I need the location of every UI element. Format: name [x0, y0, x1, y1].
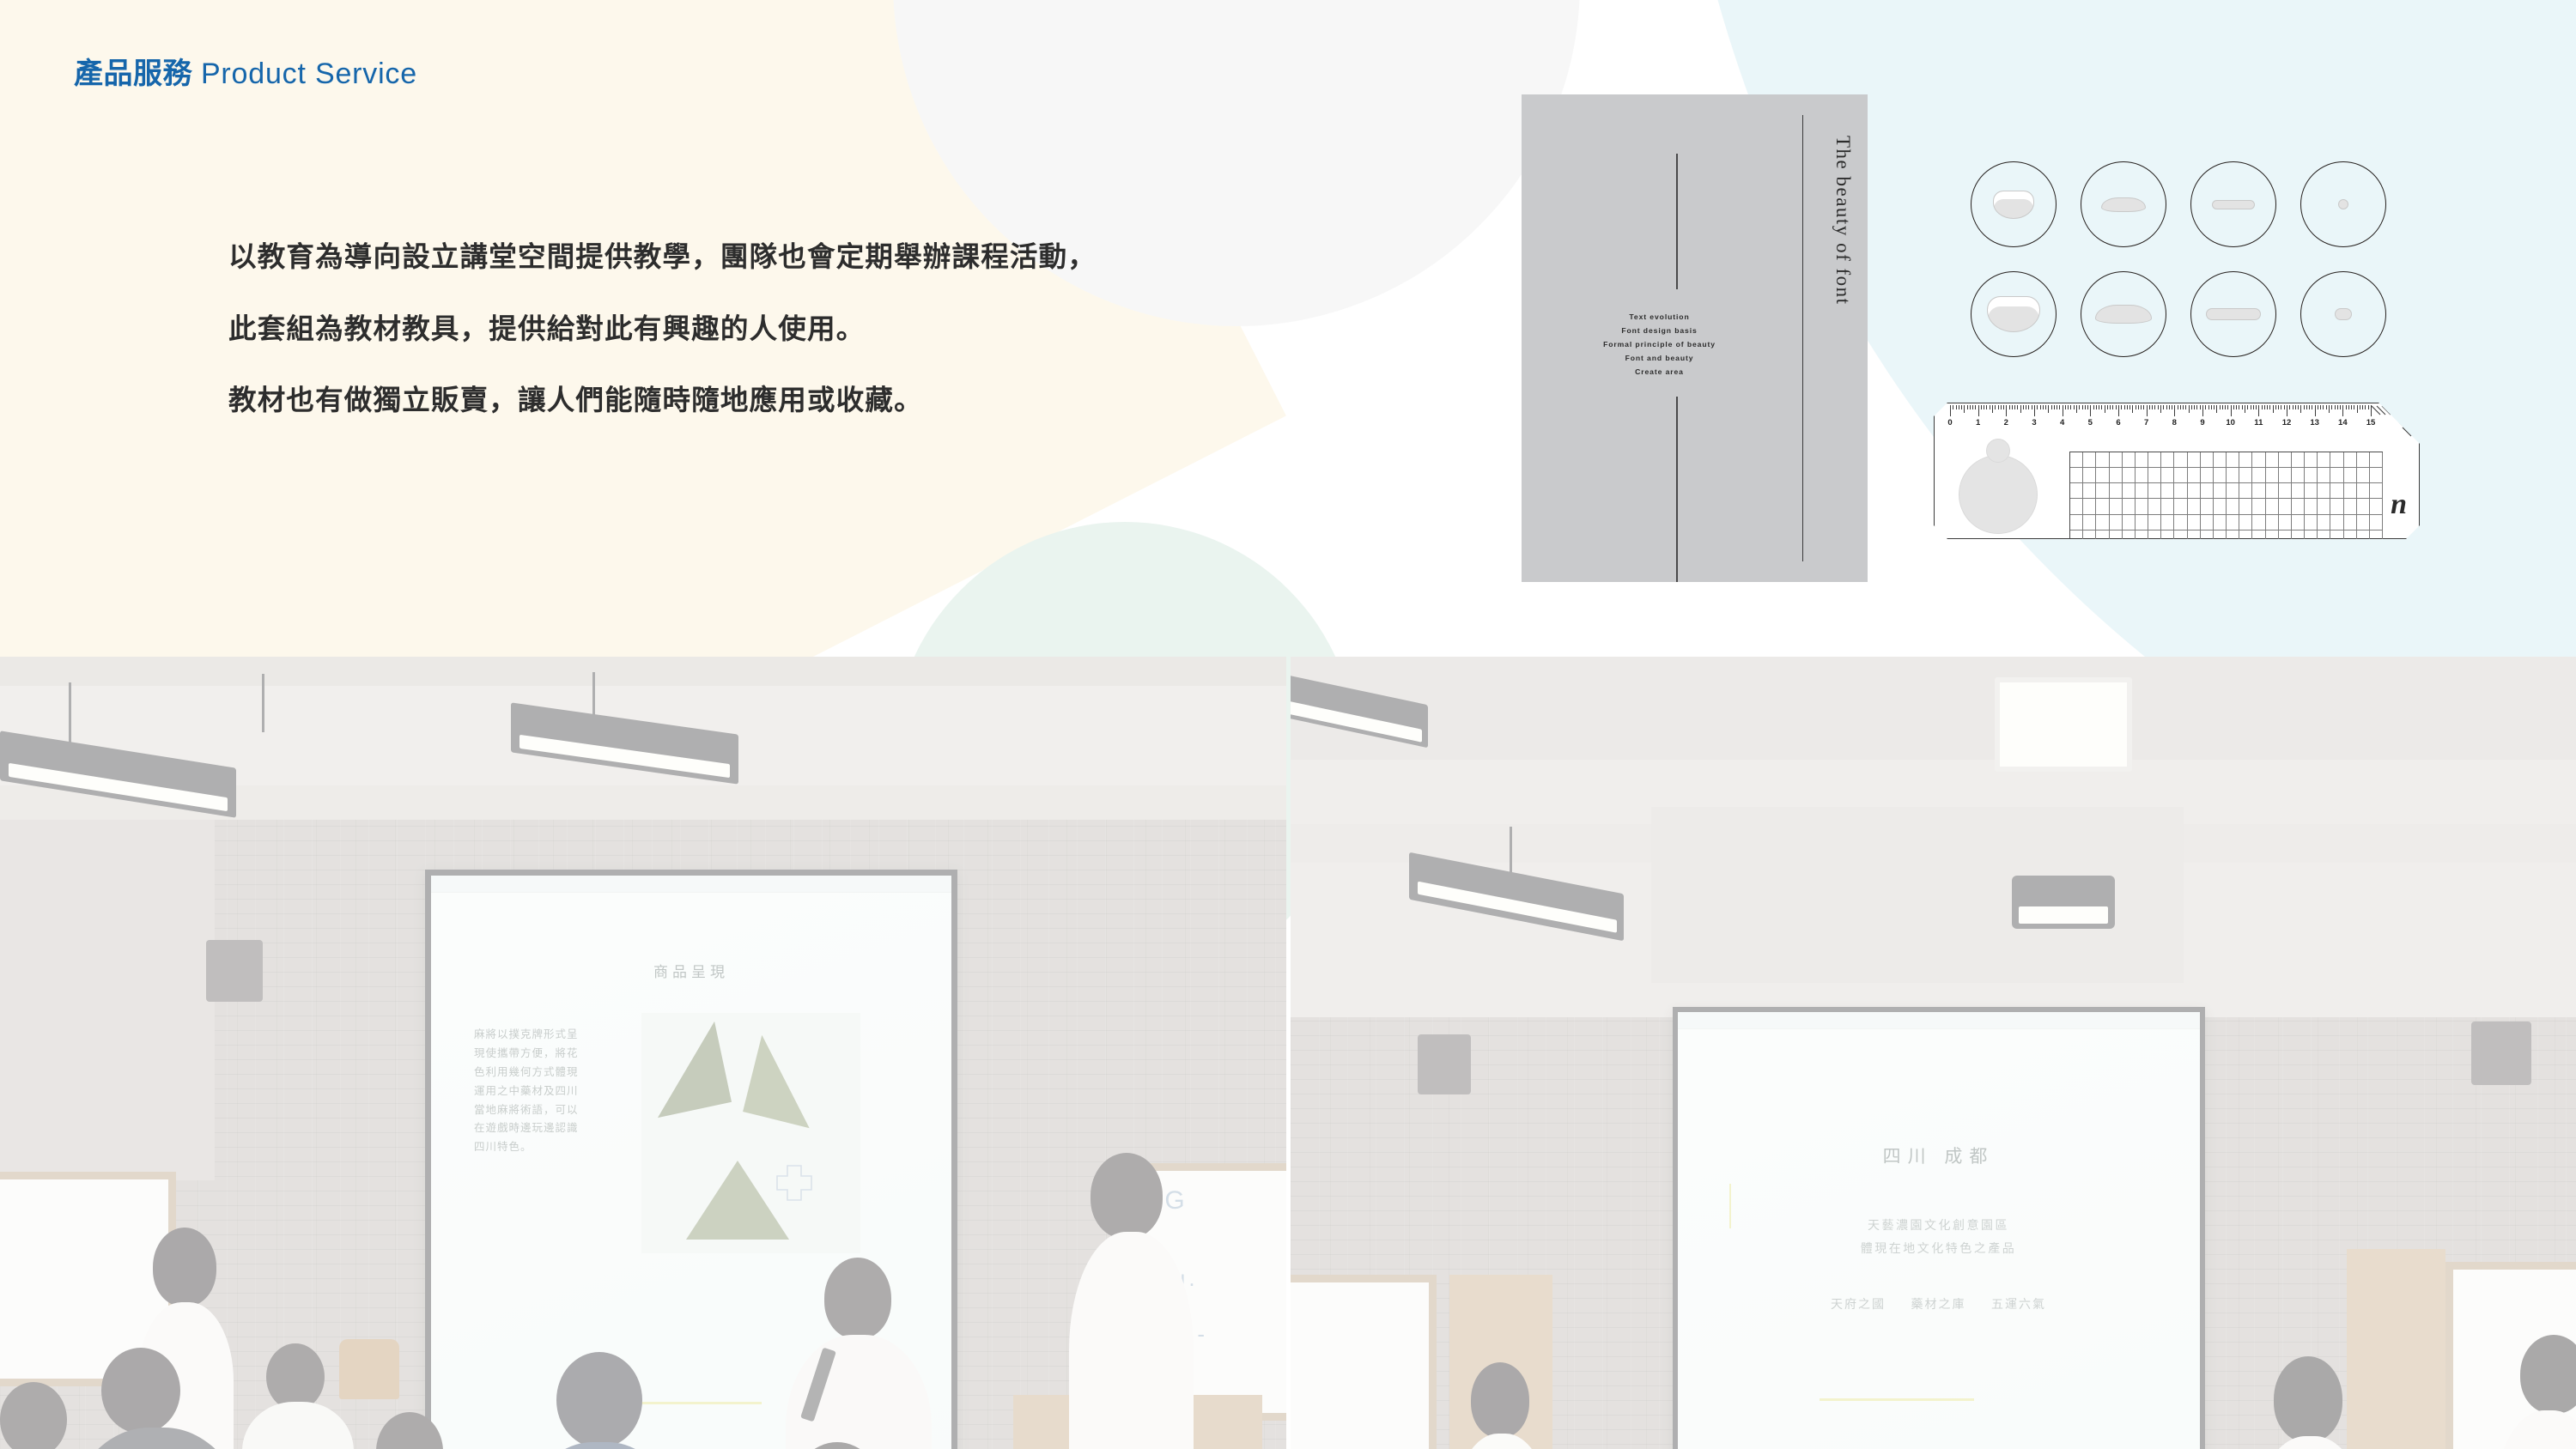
ruler-tick-minor: [2045, 405, 2046, 409]
ruler-grid-cell: [2214, 483, 2227, 499]
ruler-tick-minor: [2116, 405, 2117, 409]
ruler-tick-minor: [2293, 405, 2293, 409]
body-line: 以教育為導向設立講堂空間提供教學，團隊也會定期舉辦課程活動，: [228, 243, 1097, 271]
ruler-tick-major: [2118, 405, 2119, 416]
person-head: [1471, 1362, 1529, 1438]
ruler-grid-cell: [2188, 499, 2201, 514]
ruler-tick-minor: [2196, 405, 2197, 409]
ruler-grid-cell: [2279, 483, 2292, 499]
ruler-grid-cell: [2214, 468, 2227, 483]
ruler-tick-minor: [2216, 405, 2217, 413]
ruler-grid-cell: [2292, 468, 2305, 483]
ruler-tick-minor: [2001, 405, 2002, 409]
ruler-tick-minor: [2138, 405, 2139, 409]
ruler-tick-minor: [2099, 405, 2099, 409]
ruler-tick-minor: [2009, 405, 2010, 409]
ruler-grid-cell: [2123, 499, 2136, 514]
ruler-grid-cell: [2096, 499, 2109, 514]
person-head: [266, 1343, 325, 1410]
ruler-tick-minor: [2340, 405, 2341, 409]
ruler-tick-minor: [1959, 405, 1959, 409]
slide-accent-tick: [1729, 1184, 1731, 1228]
ruler-grid-cell: [2161, 499, 2174, 514]
side-wall: [0, 820, 215, 1180]
ruler-tick-minor: [2256, 405, 2257, 409]
ruler-grid-cell: [2136, 499, 2148, 514]
ruler-grid-cell: [2123, 483, 2136, 499]
ruler-scale: 0123456789101112131415: [1950, 405, 2371, 436]
ruler-grid-cell: [2344, 483, 2357, 499]
page-title-en: Product Service: [201, 58, 417, 90]
ruler-tick-minor: [2065, 405, 2066, 409]
ruler-grid-cell: [2252, 515, 2265, 530]
ruler-tick-minor: [2037, 405, 2038, 409]
slide-title: 商品呈現: [431, 960, 951, 981]
ruler-grid-cell: [2070, 452, 2083, 468]
stamp-u-curve-small-icon: [1971, 161, 2057, 247]
ruler-grid-cell: [2344, 452, 2357, 468]
ruler-tick-minor: [2236, 405, 2237, 409]
poster-mockup: The beauty of font Text evolution Font d…: [1522, 94, 1868, 582]
slide-subtitle: 天藝濃園文化創意園區 體現在地文化特色之產品: [1678, 1214, 2200, 1259]
ruler-grid-cell: [2110, 452, 2123, 468]
ruler-grid-cell: [2161, 468, 2174, 483]
poster-contents-list: Text evolution Font design basis Formal …: [1522, 311, 1797, 379]
ruler-grid-cell: [2318, 515, 2330, 530]
ruler-grid-cell: [2201, 499, 2214, 514]
ruler-grid-cell: [2305, 483, 2318, 499]
person-head: [0, 1382, 67, 1449]
ruler-grid-cell: [2330, 452, 2343, 468]
wall-speaker: [1418, 1034, 1471, 1094]
whiteboard-left: [1291, 1275, 1437, 1449]
ruler-tick-minor: [2129, 405, 2130, 409]
ruler-grid-cell: [2279, 468, 2292, 483]
cabinet: [2347, 1249, 2445, 1449]
ruler-grid-cell: [2110, 468, 2123, 483]
ruler-grid-cell: [2136, 515, 2148, 530]
ruler-grid-cell: [2357, 499, 2370, 514]
ruler-grid-cell: [2174, 452, 2187, 468]
ruler-grid-cell: [2214, 452, 2227, 468]
lamp-rod: [1510, 827, 1512, 875]
ruler-tick-minor: [2264, 405, 2265, 409]
ruler-tick-minor: [2185, 405, 2186, 409]
ruler-grid-cell: [2201, 452, 2214, 468]
ruler-grid-cell: [2070, 515, 2083, 530]
ruler-tick-minor: [2149, 405, 2150, 409]
ruler-circle-nub: [1986, 439, 2010, 463]
ruler-grid-cell: [2148, 468, 2161, 483]
ruler-grid-cell: [2070, 499, 2083, 514]
ruler-grid-cell: [2318, 468, 2330, 483]
ruler-tick-minor: [2309, 405, 2310, 409]
ruler-tick-minor: [2127, 405, 2128, 409]
ruler-tick-minor: [2166, 405, 2167, 409]
ruler-grid-cell: [2370, 515, 2383, 530]
ruler-tick-minor: [2023, 405, 2024, 409]
ruler-tick-minor: [1964, 405, 1965, 413]
ruler-tick-minor: [2026, 405, 2026, 409]
slide-title: 四川 成都: [1678, 1143, 2200, 1168]
ruler-tick-major: [2174, 405, 2175, 416]
stamp-dot-small-icon: [2300, 161, 2386, 247]
poster-contents-item: Formal principle of beauty: [1522, 338, 1797, 352]
ruler-tick-minor: [2346, 405, 2347, 409]
ruler-tick-major: [2287, 405, 2287, 416]
ruler-tick-minor: [2121, 405, 2122, 409]
ruler-grid-cell: [2174, 468, 2187, 483]
ruler-tick-minor: [2242, 405, 2243, 409]
poster-rule-lower: [1676, 397, 1678, 582]
ruler-grid-cell: [2201, 483, 2214, 499]
ruler-grid-cell: [2227, 468, 2239, 483]
ruler-grid-cell: [2370, 468, 2383, 483]
ruler-grid-cell: [2239, 452, 2252, 468]
brand-logo-icon: n: [2391, 488, 2405, 521]
ruler-tick-minor: [2087, 405, 2088, 409]
ruler-grid-cell: [2330, 483, 2343, 499]
ruler-tick-minor: [1992, 405, 1993, 413]
ruler-tick-minor: [2154, 405, 2155, 409]
ruler-tick-minor: [2043, 405, 2044, 409]
ruler-grid-cell: [2330, 468, 2343, 483]
ruler-tick-minor: [2194, 405, 2195, 409]
ruler-tick-minor: [1998, 405, 1999, 409]
ruler-grid-cell: [2188, 515, 2201, 530]
ruler-grid-cell: [2174, 499, 2187, 514]
ceiling-lamp: [2012, 876, 2115, 929]
ruler-tick-minor: [1986, 405, 1987, 409]
ruler-tick-minor: [2105, 405, 2105, 413]
ruler-tick-minor: [2054, 405, 2055, 409]
person-head: [556, 1352, 642, 1448]
person-body: [1069, 1232, 1194, 1449]
poster-contents-item: Font and beauty: [1522, 352, 1797, 366]
ruler-tick-minor: [1972, 405, 1973, 409]
stamp-dot-large-icon: [2300, 271, 2386, 357]
ruler-tick-minor: [2278, 405, 2279, 409]
ruler-tick-major: [1978, 405, 1979, 416]
ruler-grid-cell: [2305, 515, 2318, 530]
slide-toolbar: [431, 876, 951, 893]
ruler-grid-cell: [2227, 515, 2239, 530]
ruler-grid-cell: [2083, 468, 2096, 483]
slide: 四川 成都 天藝濃園文化創意園區 體現在地文化特色之產品 天府之國 藥材之庫 五…: [1678, 1012, 2200, 1449]
ruler-grid-cell: [2214, 499, 2227, 514]
ruler-tick-major: [2231, 405, 2232, 416]
ruler-grid-cell: [2136, 468, 2148, 483]
ruler-grid-cell: [2161, 515, 2174, 530]
photo-strip: 商品呈現 麻將以撲克牌形式呈 現使攜帶方便，將花 色利用幾何方式體現 運用之中藥…: [0, 657, 2576, 1449]
ruler-grid-cell: [2227, 499, 2239, 514]
poster-contents-item: Create area: [1522, 366, 1797, 379]
ruler-tick-minor: [2284, 405, 2285, 409]
ruler-grid-cell: [2174, 483, 2187, 499]
wall-speaker: [2471, 1022, 2531, 1085]
ruler-tick-minor: [2323, 405, 2324, 409]
ruler-tick-minor: [2112, 405, 2113, 409]
ruler-grid-cell: [2227, 452, 2239, 468]
chair: [339, 1339, 399, 1399]
ruler-tick-major: [2063, 405, 2063, 416]
ruler-tick-minor: [2245, 405, 2245, 413]
ruler-tick-minor: [2348, 405, 2349, 409]
ruler-tick-minor: [2211, 405, 2212, 409]
ruler-grid-cell: [2201, 515, 2214, 530]
ruler-grid-cell: [2266, 468, 2279, 483]
ruler-grid-cell: [2161, 483, 2174, 499]
ruler-grid-cell: [2110, 499, 2123, 514]
ruler-tick-minor: [1984, 405, 1984, 409]
ruler-tick-minor: [2020, 405, 2021, 413]
page-title-zh: 產品服務: [74, 58, 192, 90]
lamp-rod: [262, 674, 264, 732]
ruler-tick-label: 5: [2088, 418, 2093, 427]
ruler-tick-minor: [2124, 405, 2125, 409]
body-line: 此套組為教材教具，提供給對此有興趣的人使用。: [228, 315, 1097, 343]
ruler-grid-cell: [2214, 515, 2227, 530]
ruler-tick-minor: [2326, 405, 2327, 409]
poster-contents-item: Text evolution: [1522, 311, 1797, 324]
ruler-grid-cell: [2110, 483, 2123, 499]
ruler-grid-cell: [2318, 452, 2330, 468]
ruler-tick-minor: [2312, 405, 2312, 409]
ruler-grid-cell: [2070, 483, 2083, 499]
slide-page: 產品服務 Product Service 以教育為導向設立講堂空間提供教學，團隊…: [0, 0, 2576, 1449]
projection-screen: 四川 成都 天藝濃園文化創意園區 體現在地文化特色之產品 天府之國 藥材之庫 五…: [1673, 1007, 2205, 1449]
ruler-tick-minor: [2107, 405, 2108, 409]
ruler-tick-minor: [2227, 405, 2228, 409]
ruler-tick-label: 13: [2310, 418, 2319, 427]
ruler-grid-cell: [2188, 468, 2201, 483]
stamp-arc-large-icon: [2081, 271, 2166, 357]
ruler-tick-label: 3: [2032, 418, 2036, 427]
ruler-grid-cell: [2096, 452, 2109, 468]
ruler-tick-minor: [2200, 405, 2201, 409]
lamp-rod: [592, 672, 595, 720]
ruler-grid-cell: [2123, 515, 2136, 530]
ruler-grid-cell: [2344, 515, 2357, 530]
ruler-grid-cell: [2318, 499, 2330, 514]
ruler-tick-minor: [2183, 405, 2184, 409]
ruler-grid-cell: [2083, 483, 2096, 499]
ruler-tick-minor: [2079, 405, 2080, 409]
ruler-grid-cell: [2305, 468, 2318, 483]
ruler-tick-minor: [2225, 405, 2226, 409]
ruler-grid-cell: [2292, 499, 2305, 514]
ruler-tick-label: 14: [2338, 418, 2348, 427]
ruler-grid-cell: [2239, 515, 2252, 530]
poster-title-rule: [1802, 115, 1803, 561]
ruler-grid-cell: [2344, 499, 2357, 514]
ruler-grid-cell: [2239, 483, 2252, 499]
ruler-tick-minor: [1975, 405, 1976, 409]
ruler-grid-cell: [2292, 483, 2305, 499]
ruler-tick-minor: [2251, 405, 2251, 409]
slide-toolbar: [1678, 1012, 2200, 1029]
ruler-grid-cell: [2305, 499, 2318, 514]
ruler-grid-cell: [2096, 515, 2109, 530]
ruler-tick-minor: [2141, 405, 2142, 409]
ruler-grid-cell: [2188, 483, 2201, 499]
ruler-grid-cell: [2148, 515, 2161, 530]
ruler-tick-minor: [1956, 405, 1957, 409]
ruler-tick-minor: [2253, 405, 2254, 409]
ruler-tick-major: [2315, 405, 2316, 416]
ruler-grid-cell: [2123, 452, 2136, 468]
ruler-tick-minor: [2214, 405, 2215, 409]
ruler-tick-minor: [2318, 405, 2318, 409]
ruler-grid-cell: [2330, 515, 2343, 530]
stamp-bar-small-icon: [2190, 161, 2276, 247]
ruler-tick-label: 9: [2200, 418, 2204, 427]
ruler-tick-minor: [2300, 405, 2301, 413]
ruler-grid-cell: [2279, 499, 2292, 514]
ruler-tick-minor: [2163, 405, 2164, 409]
person-head: [101, 1348, 180, 1434]
ruler-tick-minor: [2032, 405, 2032, 409]
ruler-grid-cell: [2266, 452, 2279, 468]
ruler-grid-cell: [2083, 452, 2096, 468]
ruler-grid-cell: [2148, 452, 2161, 468]
ruler-tick-minor: [2068, 405, 2069, 409]
person-head: [2274, 1356, 2342, 1442]
ruler-grid-cell: [2083, 499, 2096, 514]
ruler-tick-minor: [2048, 405, 2049, 413]
lamp-rod: [69, 682, 71, 749]
ruler-grid-cell: [2266, 483, 2279, 499]
ceiling-beam: [1291, 657, 2576, 760]
ruler-grid-cell: [2292, 452, 2305, 468]
ruler-grid-cell: [2252, 483, 2265, 499]
ruler-tick-minor: [2051, 405, 2052, 409]
ruler-tick-minor: [2082, 405, 2083, 409]
ruler-tick-minor: [2070, 405, 2071, 409]
ruler-tick-minor: [2337, 405, 2338, 409]
slide-tags: 天府之國 藥材之庫 五運六氣: [1678, 1295, 2200, 1313]
ruler-tool: 0123456789101112131415 n: [1934, 403, 2420, 539]
ruler-tick-minor: [1970, 405, 1971, 409]
ruler-grid-cell: [2370, 483, 2383, 499]
ruler-grid-cell: [2318, 483, 2330, 499]
slide-image: [641, 1013, 860, 1253]
ruler-grid-cell: [2096, 483, 2109, 499]
ruler-tick-minor: [2180, 405, 2181, 409]
ruler-tick-major: [2034, 405, 2035, 416]
photo-classroom-right: 四川 成都 天藝濃園文化創意園區 體現在地文化特色之產品 天府之國 藥材之庫 五…: [1291, 657, 2576, 1449]
ruler-tick-minor: [2267, 405, 2268, 409]
ruler-tick-major: [2006, 405, 2007, 416]
ruler-grid-cell: [2239, 468, 2252, 483]
photo-classroom-left: 商品呈現 麻將以撲克牌形式呈 現使攜帶方便，將花 色利用幾何方式體現 運用之中藥…: [0, 657, 1286, 1449]
ruler-tick-minor: [1981, 405, 1982, 409]
ruler-grid-cell: [2252, 499, 2265, 514]
ruler-tick-minor: [2360, 405, 2360, 409]
ruler-tick-minor: [2262, 405, 2263, 409]
ruler-grid-cell: [2148, 499, 2161, 514]
ruler-tick-minor: [2003, 405, 2004, 409]
stamp-bar-large-icon: [2190, 271, 2276, 357]
ruler-tick-minor: [2014, 405, 2015, 409]
ruler-grid-cell: [2136, 483, 2148, 499]
ruler-grid-cell: [2174, 515, 2187, 530]
ruler-tick-minor: [2233, 405, 2234, 409]
ruler-tick-minor: [2304, 405, 2305, 409]
ruler-grid-cell: [2330, 499, 2343, 514]
ruler-tick-minor: [2208, 405, 2209, 409]
ruler-tick-minor: [2331, 405, 2332, 409]
ruler-tick-minor: [2269, 405, 2270, 409]
wall-speaker: [206, 940, 263, 1002]
ruler-tick-label: 4: [2060, 418, 2064, 427]
ruler-tick-minor: [2281, 405, 2281, 409]
ruler-grid-cell: [2096, 468, 2109, 483]
ruler-tick-label: 12: [2282, 418, 2292, 427]
person-head: [1091, 1153, 1163, 1239]
ruler-grid-cell: [2239, 499, 2252, 514]
person-head: [153, 1228, 216, 1307]
ruler-grid-cell: [2110, 515, 2123, 530]
ruler-tick-minor: [2074, 405, 2075, 409]
ruler-tick-major: [2202, 405, 2203, 416]
ruler-grid-cell: [2357, 468, 2370, 483]
ruler-tick-minor: [2273, 405, 2274, 413]
ruler-grid-cell: [2370, 499, 2383, 514]
ruler-grid-cell: [2083, 515, 2096, 530]
slide-body: 麻將以撲克牌形式呈 現使攜帶方便，將花 色利用幾何方式體現 運用之中藥材及四川 …: [474, 1026, 586, 1157]
panel-light: [1995, 677, 2132, 772]
ruler-tick-minor: [2329, 405, 2330, 413]
ruler-tick-label: 0: [1947, 418, 1952, 427]
poster-vertical-title: The beauty of font: [1832, 136, 1854, 306]
page-title: 產品服務 Product Service: [74, 50, 417, 92]
ruler-tick-major: [2090, 405, 2091, 416]
ruler-tick-minor: [2017, 405, 2018, 409]
ruler-tick-label: 2: [2004, 418, 2008, 427]
ruler-tick-minor: [2132, 405, 2133, 413]
ruler-tick-minor: [1990, 405, 1990, 409]
ruler-tick-major: [2342, 405, 2343, 416]
ruler-tick-label: 8: [2172, 418, 2177, 427]
ruler-grid-cell: [2305, 452, 2318, 468]
slide-accent-line: [1820, 1398, 1974, 1401]
ruler-grid-cell: [2201, 468, 2214, 483]
ruler-grid-cell: [2136, 452, 2148, 468]
ruler-grid-cell: [2227, 483, 2239, 499]
ruler-tick-minor: [1967, 405, 1968, 409]
ruler-tick-minor: [2178, 405, 2178, 409]
ruler-tick-minor: [2357, 405, 2358, 413]
ruler-tick-minor: [2335, 405, 2336, 409]
ruler-tick-minor: [2110, 405, 2111, 409]
ruler-tick-minor: [2320, 405, 2321, 409]
ruler-grid-cell: [2252, 468, 2265, 483]
body-line: 教材也有做獨立販賣，讓人們能隨時隨地應用或收藏。: [228, 386, 1097, 415]
ruler-tick-minor: [2136, 405, 2136, 409]
ruler-tick-minor: [2076, 405, 2077, 413]
ruler-tick-minor: [2101, 405, 2102, 409]
ruler-tick-minor: [2059, 405, 2060, 409]
ruler-tick-minor: [2289, 405, 2290, 409]
ruler-tick-major: [2258, 405, 2259, 416]
ruler-tick-minor: [2152, 405, 2153, 409]
ruler-grid: [2069, 452, 2383, 546]
ruler-grid-cell: [2357, 515, 2370, 530]
ruler-grid-cell: [2070, 468, 2083, 483]
ruler-grid-cell: [2266, 499, 2279, 514]
ruler-tick-minor: [2096, 405, 2097, 409]
